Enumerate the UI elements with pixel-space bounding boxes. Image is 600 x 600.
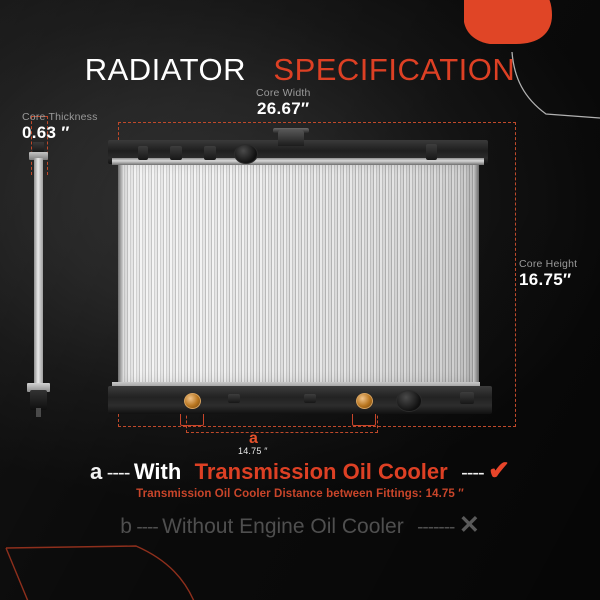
core-height-callout: Core Height 16.75″ — [519, 258, 577, 290]
core-height-value: 16.75″ — [519, 270, 577, 290]
title-word-radiator: RADIATOR — [85, 52, 246, 87]
option-row-without-engine-cooler: b ---- Without Engine Oil Cooler -------… — [0, 510, 600, 540]
check-icon: ✔ — [488, 455, 510, 485]
core-shading — [122, 159, 474, 387]
core-right-edge — [473, 159, 479, 387]
trans-cooler-fitting-right — [356, 393, 373, 409]
option-a-prefix: With — [134, 459, 181, 484]
upper-bracket-3 — [204, 146, 216, 160]
radiator-side-view — [26, 140, 52, 430]
core-height-caption: Core Height — [519, 258, 577, 270]
core-width-callout: Core Width 26.67″ — [256, 87, 311, 119]
page-title: RADIATOR SPECIFICATION — [0, 52, 600, 88]
core-thickness-callout: Core Thickness 0.63 ″ — [22, 111, 98, 143]
upper-hose-port — [234, 144, 258, 164]
lower-bracket-2 — [304, 394, 316, 403]
cross-icon: ✕ — [459, 511, 480, 539]
side-view-drain-nipple — [36, 408, 41, 417]
trans-cooler-fitting-left — [184, 393, 201, 409]
option-b-letter: b — [120, 515, 132, 538]
option-b-dots-right: ------- — [417, 517, 454, 538]
core-width-caption: Core Width — [256, 87, 311, 99]
lower-bracket-3 — [460, 392, 474, 404]
radiator-front-view — [108, 128, 503, 424]
option-b-dots-left: ---- — [136, 517, 157, 538]
side-view-bottom-tank — [30, 390, 47, 410]
core-width-value: 26.67″ — [256, 99, 311, 119]
option-row-with-trans-cooler: a ---- With Transmission Oil Cooler ----… — [0, 455, 600, 486]
radiator-core-fins — [122, 159, 474, 387]
upper-bracket-2 — [170, 146, 182, 160]
lower-hose-port — [396, 390, 422, 412]
filler-neck — [278, 130, 304, 146]
spec-sheet-canvas: RADIATOR SPECIFICATION — [0, 0, 600, 600]
upper-bracket-4 — [426, 144, 437, 160]
side-view-core-edge — [34, 158, 43, 386]
option-a-dots-right: ---- — [461, 462, 484, 484]
core-thickness-caption: Core Thickness — [22, 111, 98, 123]
option-a-note: Transmission Oil Cooler Distance between… — [0, 488, 600, 500]
option-a-dots-left: ---- — [107, 462, 130, 484]
upper-bracket-1 — [138, 146, 148, 160]
core-thickness-value: 0.63 ″ — [22, 123, 98, 143]
lower-tank — [108, 386, 492, 414]
title-word-specification: SPECIFICATION — [273, 52, 515, 87]
option-a-subject: Transmission Oil Cooler — [195, 459, 448, 484]
core-left-edge — [118, 159, 123, 387]
option-b-prefix: Without Engine Oil Cooler — [162, 515, 404, 538]
option-a-letter: a — [90, 459, 102, 484]
lower-bracket-1 — [228, 394, 240, 403]
